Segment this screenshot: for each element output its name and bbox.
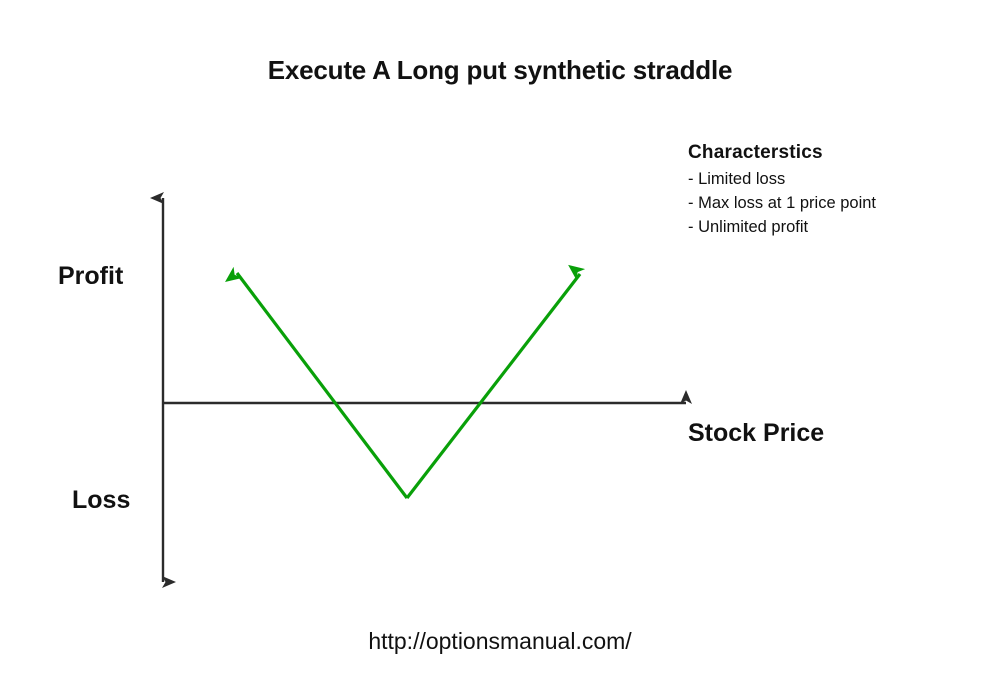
payoff-diagram-figure: Execute A Long put synthetic straddle Ch… — [0, 0, 1000, 700]
footer-url: http://optionsmanual.com/ — [0, 628, 1000, 655]
x-axis-label-stock-price: Stock Price — [688, 419, 824, 448]
list-item: - Limited loss — [688, 168, 948, 192]
characteristics-heading: Characterstics — [688, 142, 948, 164]
characteristics-list: - Limited loss - Max loss at 1 price poi… — [688, 168, 948, 240]
payoff-right-arm — [407, 274, 580, 498]
list-item: - Unlimited profit — [688, 216, 948, 240]
page-title: Execute A Long put synthetic straddle — [0, 55, 1000, 86]
y-axis-label-loss: Loss — [72, 486, 130, 515]
y-axis-label-profit: Profit — [58, 262, 123, 291]
plot-area — [0, 0, 1000, 700]
characteristics-box: Characterstics - Limited loss - Max loss… — [688, 142, 948, 240]
payoff-left-arm — [237, 273, 407, 498]
list-item: - Max loss at 1 price point — [688, 192, 948, 216]
